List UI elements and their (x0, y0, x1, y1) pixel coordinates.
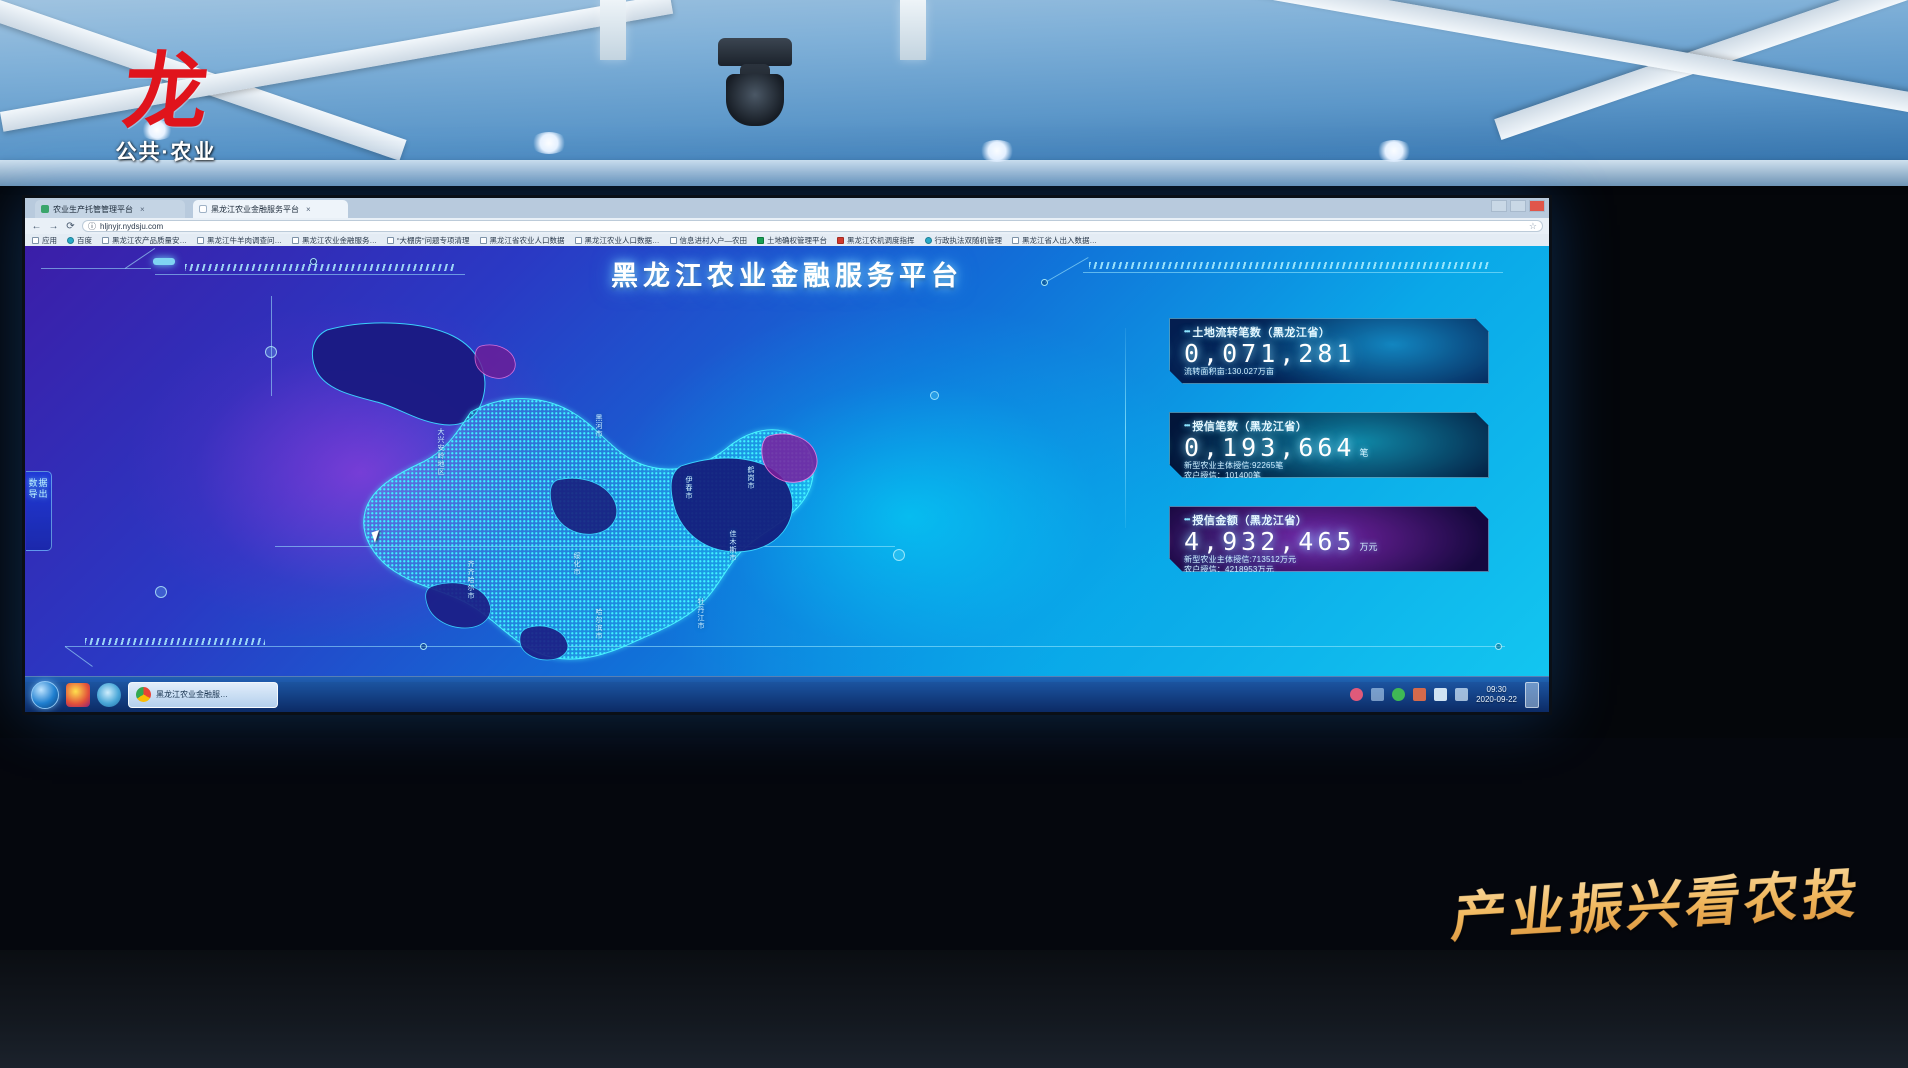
export-data-tab[interactable]: 数据导出 (26, 471, 52, 551)
bookmark-star-icon[interactable]: ☆ (1529, 221, 1537, 232)
reload-icon[interactable]: ⟳ (65, 221, 76, 232)
tab-title: 黑龙江农业金融服务平台 (211, 204, 299, 215)
bookmark-item[interactable]: 黑龙江牛羊肉调查问… (197, 235, 282, 246)
stat-card-land-transfer[interactable]: ⚙ 土地流转笔数（黑龙江省） 0,071,281 流转面积亩:130.027万亩 (1169, 318, 1489, 384)
stat-card-sub-1: 流转面积亩:130.027万亩 (1184, 367, 1478, 377)
stat-card-credit-count[interactable]: ⚙ 授信笔数（黑龙江省） 0,193,664笔 新型农业主体授信:92265笔 … (1169, 412, 1489, 478)
page-icon (670, 237, 677, 244)
stat-card-title: 授信笔数（黑龙江省） (1184, 418, 1478, 434)
bookmark-item[interactable]: 信息进村入户—农田 (670, 235, 748, 246)
heilongjiang-map[interactable]: 大兴安岭地区 黑河市 伊春市 齐齐哈尔市 绥化市 鹤岗市 佳木斯市 哈尔滨市 牡… (275, 316, 875, 676)
taskbar-window-chrome[interactable]: 黑龙江农业金融服… (128, 682, 278, 708)
map-label-daxinganling: 大兴安岭地区 (435, 428, 445, 476)
page-icon (480, 237, 487, 244)
browser-tab-1[interactable]: 农业生产托管管理平台 × (35, 200, 185, 218)
hud-diagonal-bottom-left (65, 646, 93, 667)
start-orb-icon[interactable] (31, 681, 59, 709)
map-label-yichun: 伊春市 (683, 476, 693, 500)
stat-card-sub-1: 新型农业主体授信:713512万元 (1184, 555, 1478, 565)
ceiling-projector (718, 38, 792, 66)
bookmark-label: 黑龙江农业金融服务… (302, 235, 377, 246)
bookmark-label: 土地确权管理平台 (767, 235, 827, 246)
stat-card-sub-2: 农户授信：101400笔 (1184, 471, 1478, 481)
bookmark-label: 信息进村入户—农田 (680, 235, 748, 246)
stat-card-value: 4,932,465万元 (1184, 529, 1478, 555)
hud-dot-mid (930, 391, 939, 400)
tab-close-icon[interactable]: × (306, 205, 311, 214)
bookmark-item[interactable]: 黑龙江省农业人口数据 (480, 235, 565, 246)
windows-taskbar: 黑龙江农业金融服… 09:30 2020-09-22 (25, 676, 1549, 712)
page-icon (102, 237, 109, 244)
conference-room: 农业生产托管管理平台 × 黑龙江农业金融服务平台 × ← → ⟳ (0, 0, 1908, 1068)
cards-connector-line (1125, 328, 1126, 528)
stat-value-number: 4,932,465 (1184, 527, 1355, 556)
media-player-icon[interactable] (66, 683, 90, 707)
system-tray: 09:30 2020-09-22 (1350, 682, 1543, 708)
tab-favicon (41, 205, 49, 213)
ceiling-beam-center-left (600, 0, 626, 60)
red-icon (837, 237, 844, 244)
url-input[interactable]: ⓘ hljnyjr.nydsju.com ☆ (82, 220, 1543, 232)
stat-value-unit: 万元 (1359, 543, 1377, 553)
bookmark-item[interactable]: 黑龙江农产品质量安… (102, 235, 187, 246)
page-title: 黑龙江农业金融服务平台 (25, 254, 1549, 293)
ceiling-light-2 (978, 140, 1016, 162)
cyan-icon (925, 237, 932, 244)
browser-tab-2[interactable]: 黑龙江农业金融服务平台 × (193, 200, 348, 218)
baidu-icon (67, 237, 74, 244)
site-info-icon[interactable]: ⓘ (88, 221, 96, 232)
window-controls[interactable] (1491, 200, 1545, 212)
url-text: hljnyjr.nydsju.com (100, 222, 163, 231)
browser-chrome: 农业生产托管管理平台 × 黑龙江农业金融服务平台 × ← → ⟳ (25, 198, 1549, 246)
bookmarks-bar: 应用 百度 黑龙江农产品质量安… 黑龙江牛羊肉调查问… 黑龙江农业金融服务… (25, 234, 1549, 246)
bookmark-item[interactable]: “大棚房”问题专项清理 (387, 235, 470, 246)
page-icon (292, 237, 299, 244)
clock-time: 09:30 (1476, 685, 1517, 695)
page-icon (575, 237, 582, 244)
ceiling-beam-center-right (900, 0, 926, 60)
stat-card-title: 授信金额（黑龙江省） (1184, 512, 1478, 528)
stat-card-credit-amount[interactable]: ⚙ 授信金额（黑龙江省） 4,932,465万元 新型农业主体授信:713512… (1169, 506, 1489, 572)
tab-close-icon[interactable]: × (140, 205, 145, 214)
bookmark-baidu[interactable]: 百度 (67, 235, 92, 246)
bookmark-label: “大棚房”问题专项清理 (397, 235, 470, 246)
station-logo: 龙 公共·农业 (96, 52, 236, 197)
chrome-icon (136, 687, 151, 702)
hud-dot-right (893, 549, 905, 561)
browser-tabstrip: 农业生产托管管理平台 × 黑龙江农业金融服务平台 × (25, 198, 1549, 218)
ceiling-light-1 (530, 132, 568, 154)
gear-icon: ⚙ (1142, 341, 1164, 363)
hud-node-bottom-2 (1495, 643, 1502, 650)
led-video-wall: 农业生产托管管理平台 × 黑龙江农业金融服务平台 × ← → ⟳ (22, 195, 1552, 715)
hud-line-vert-left (271, 296, 272, 396)
stat-card-title: 土地流转笔数（黑龙江省） (1184, 324, 1478, 340)
broadcast-slogan: 产业振兴看农投 (1449, 849, 1866, 953)
map-label-qiqihaer: 齐齐哈尔市 (465, 560, 475, 600)
gear-icon: ⚙ (1142, 529, 1164, 551)
apps-grid-icon (32, 237, 39, 244)
station-logo-glyph: 龙 (92, 52, 240, 132)
volume-icon[interactable] (1455, 688, 1468, 701)
back-icon[interactable]: ← (31, 221, 42, 232)
gear-icon: ⚙ (1142, 435, 1164, 457)
tab-favicon (199, 205, 207, 213)
sync-icon[interactable] (1392, 688, 1405, 701)
bookmark-label: 应用 (42, 235, 57, 246)
map-label-heihe: 黑河市 (593, 414, 603, 438)
map-label-jiamusi: 佳木斯市 (727, 530, 737, 562)
bookmark-label: 黑龙江农机调度指挥 (847, 235, 915, 246)
green-icon (757, 237, 764, 244)
bookmark-item[interactable]: 土地确权管理平台 (757, 235, 827, 246)
map-svg (275, 316, 875, 676)
bookmark-label: 黑龙江省农业人口数据 (490, 235, 565, 246)
dashboard-canvas: 黑龙江农业金融服务平台 数据导出 (25, 246, 1549, 682)
bookmark-item[interactable]: 黑龙江省人出入数据… (1012, 235, 1097, 246)
input-method-icon[interactable] (1413, 688, 1426, 701)
stat-card-value: 0,193,664笔 (1184, 435, 1478, 461)
show-desktop-button[interactable] (1525, 682, 1539, 708)
bookmark-item[interactable]: 黑龙江农业人口数据… (575, 235, 660, 246)
stat-value-unit: 笔 (1359, 449, 1368, 459)
stat-card-sub-2: 农户授信：4218953万元 (1184, 565, 1478, 575)
ie-browser-icon[interactable] (97, 683, 121, 707)
ceiling-rail (0, 160, 1908, 186)
bookmark-label: 行政执法双随机管理 (935, 235, 1003, 246)
map-label-haerbin: 哈尔滨市 (593, 608, 603, 640)
taskbar-clock[interactable]: 09:30 2020-09-22 (1476, 685, 1517, 705)
ceiling-light-3 (1375, 140, 1413, 162)
page-icon (387, 237, 394, 244)
bookmark-item[interactable]: 行政执法双随机管理 (925, 235, 1003, 246)
maximize-icon[interactable] (1510, 200, 1526, 212)
stat-card-sub-1: 新型农业主体授信:92265笔 (1184, 461, 1478, 471)
hud-hatch-bottom (85, 638, 265, 645)
stat-value-number: 0,193,664 (1184, 433, 1355, 462)
map-region-daxinganling (312, 323, 484, 425)
projector-lens (726, 74, 784, 126)
stat-value-number: 0,071,281 (1184, 339, 1355, 368)
browser-address-bar: ← → ⟳ ⓘ hljnyjr.nydsju.com ☆ (25, 218, 1549, 234)
minimize-icon[interactable] (1491, 200, 1507, 212)
forward-icon[interactable]: → (48, 221, 59, 232)
bookmark-item[interactable]: 黑龙江农机调度指挥 (837, 235, 915, 246)
hud-dot-left-2 (155, 586, 167, 598)
floor (0, 950, 1908, 1068)
clock-date: 2020-09-22 (1476, 695, 1517, 705)
tab-title: 农业生产托管管理平台 (53, 204, 133, 215)
close-window-icon[interactable] (1529, 200, 1545, 212)
bookmark-label: 百度 (77, 235, 92, 246)
bookmark-apps[interactable]: 应用 (32, 235, 57, 246)
bookmark-label: 黑龙江牛羊肉调查问… (207, 235, 282, 246)
chevron-up-icon[interactable] (1371, 688, 1384, 701)
stat-card-value: 0,071,281 (1184, 341, 1478, 367)
map-label-suihua: 绥化市 (571, 552, 581, 576)
page-icon (197, 237, 204, 244)
stat-cards-panel: ⚙ 土地流转笔数（黑龙江省） 0,071,281 流转面积亩:130.027万亩… (1169, 318, 1489, 600)
page-icon (1012, 237, 1019, 244)
shield-icon[interactable] (1350, 688, 1363, 701)
bookmark-label: 黑龙江省人出入数据… (1022, 235, 1097, 246)
bookmark-item[interactable]: 黑龙江农业金融服务… (292, 235, 377, 246)
bookmark-label: 黑龙江农业人口数据… (585, 235, 660, 246)
bookmark-label: 黑龙江农产品质量安… (112, 235, 187, 246)
map-label-hegang: 鹤岗市 (745, 466, 755, 490)
taskbar-window-title: 黑龙江农业金融服… (156, 689, 228, 700)
map-label-mudanjiang: 牡丹江市 (695, 598, 705, 630)
keyboard-icon[interactable] (1434, 688, 1447, 701)
